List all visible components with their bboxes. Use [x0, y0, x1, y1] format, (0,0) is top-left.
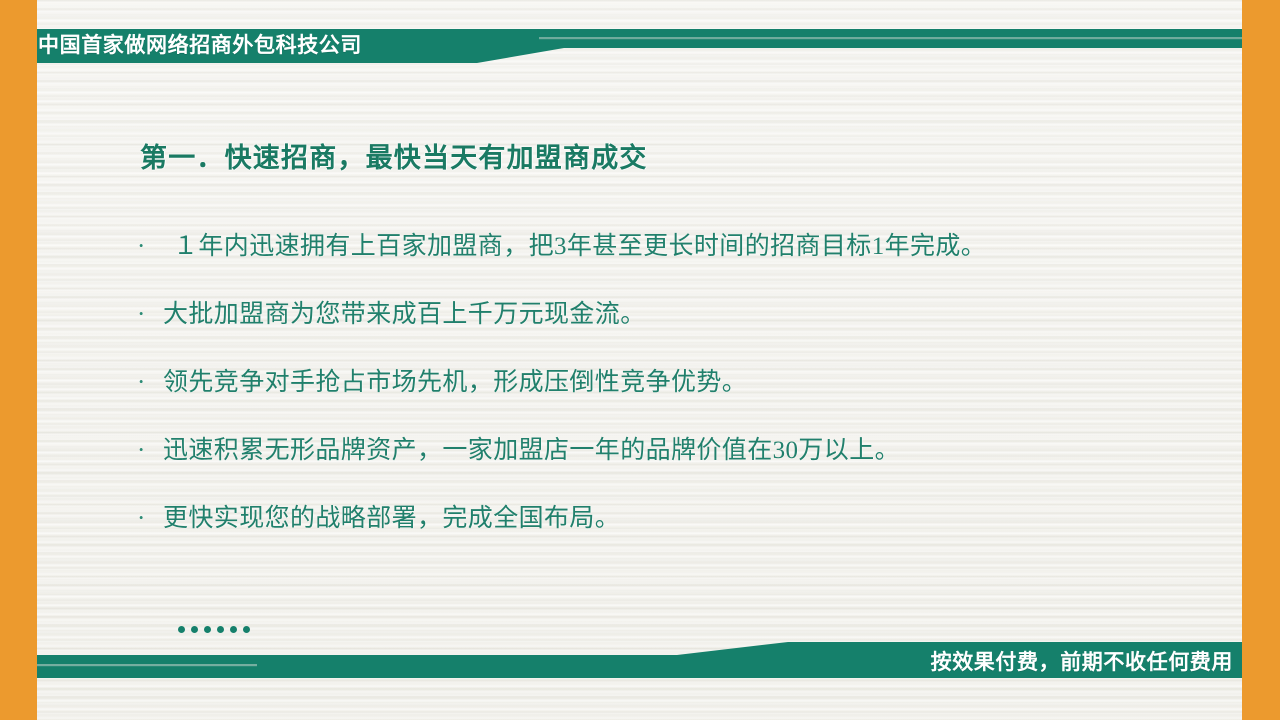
ellipsis-dot — [178, 626, 185, 633]
ellipsis-marker — [178, 626, 250, 633]
list-item: · 迅速积累无形品牌资产，一家加盟店一年的品牌价值在30万以上。 — [137, 434, 1227, 502]
ellipsis-dot — [204, 626, 211, 633]
list-item-label: 大批加盟商为您带来成百上千万元现金流。 — [163, 298, 1227, 332]
bullet-marker-icon: · — [137, 502, 163, 536]
bullet-marker-icon: · — [137, 366, 163, 400]
slide-content: 第一．快速招商，最快当天有加盟商成交 · １年内迅速拥有上百家加盟商，把3年甚至… — [37, 70, 1242, 636]
bullet-marker-icon: · — [137, 298, 163, 332]
list-item-label: １年内迅速拥有上百家加盟商，把3年甚至更长时间的招商目标1年完成。 — [163, 230, 1227, 264]
list-item-label: 更快实现您的战略部署，完成全国布局。 — [163, 502, 1227, 536]
footer-title: 按效果付费，前期不收任何费用 — [931, 648, 1233, 678]
page-title: 第一．快速招商，最快当天有加盟商成交 — [140, 136, 648, 175]
header-title: 中国首家做网络招商外包科技公司 — [38, 31, 362, 61]
ellipsis-dot — [191, 626, 198, 633]
list-item: · １年内迅速拥有上百家加盟商，把3年甚至更长时间的招商目标1年完成。 — [137, 230, 1227, 298]
slide-canvas: 中国首家做网络招商外包科技公司 第一．快速招商，最快当天有加盟商成交 · １年内… — [0, 0, 1280, 720]
bullet-marker-icon: · — [137, 434, 163, 468]
list-item: · 领先竞争对手抢占市场先机，形成压倒性竞争优势。 — [137, 366, 1227, 434]
bullet-marker-icon: · — [137, 230, 163, 264]
list-item-label: 迅速积累无形品牌资产，一家加盟店一年的品牌价值在30万以上。 — [163, 434, 1227, 468]
ellipsis-dot — [243, 626, 250, 633]
ellipsis-dot — [217, 626, 224, 633]
ellipsis-dot — [230, 626, 237, 633]
list-item-label: 领先竞争对手抢占市场先机，形成压倒性竞争优势。 — [163, 366, 1227, 400]
list-item: · 更快实现您的战略部署，完成全国布局。 — [137, 502, 1227, 570]
list-item: · 大批加盟商为您带来成百上千万元现金流。 — [137, 298, 1227, 366]
bullet-list: · １年内迅速拥有上百家加盟商，把3年甚至更长时间的招商目标1年完成。 · 大批… — [137, 230, 1227, 570]
